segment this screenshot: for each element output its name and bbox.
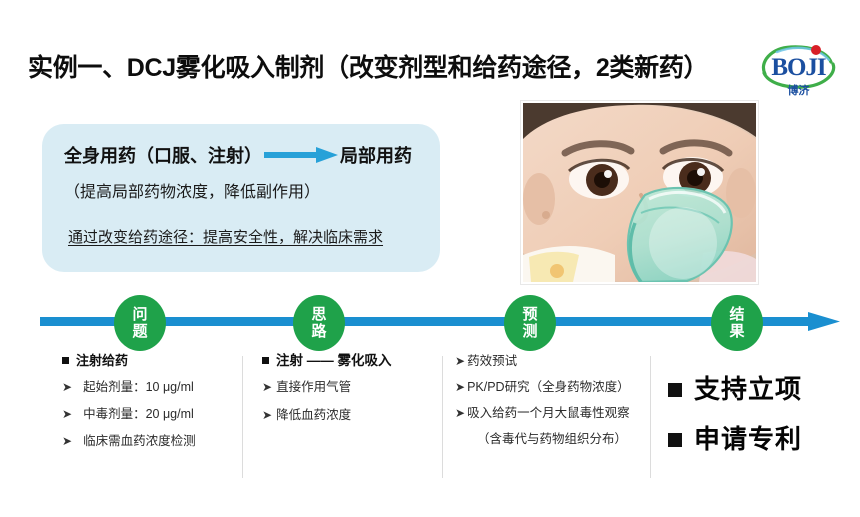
page-title-text: 实例一、DCJ雾化吸入制剂（改变剂型和给药途径，2类新药） [28, 46, 708, 90]
column-divider-3 [650, 356, 651, 478]
column-problem: 注射给药 ➤ 起始剂量：10 μg/ml ➤ 中毒剂量：20 μg/ml ➤ 临… [62, 352, 242, 459]
list-item: ➤ 起始剂量：10 μg/ml [62, 378, 242, 397]
callout-line-2: （提高局部药物浓度，降低副作用） [64, 178, 320, 202]
chevron-bullet-icon: ➤ [62, 432, 72, 451]
callout-box: 全身用药（口服、注射） 局部用药 （提高局部药物浓度，降低副作用） 通过改变给药… [42, 124, 440, 272]
chevron-bullet-icon: ➤ [262, 378, 272, 397]
list-item: ➤ 临床需血药浓度检测 [62, 432, 242, 451]
callout-line-3: 通过改变给药途径：提高安全性，解决临床需求 [68, 226, 383, 247]
timeline-step-1[interactable]: 问题 [114, 295, 166, 351]
logo-wordmark: BOJI [757, 54, 840, 82]
chevron-bullet-icon: ➤ [62, 405, 72, 424]
callout-route-to: 局部用药 [340, 142, 412, 168]
logo-wordmark-cn: 博济 [757, 82, 840, 98]
slide-canvas: 实例一、DCJ雾化吸入制剂（改变剂型和给药途径，2类新药） BOJI 博济 全身… [0, 0, 860, 517]
list-item-label: 起始剂量：10 μg/ml [83, 378, 194, 397]
column-approach-heading: 注射 —— 雾化吸入 [276, 352, 392, 369]
page-title: 实例一、DCJ雾化吸入制剂（改变剂型和给药途径，2类新药） [28, 46, 838, 90]
timeline-step-4[interactable]: 结果 [711, 295, 763, 351]
content-columns: 注射给药 ➤ 起始剂量：10 μg/ml ➤ 中毒剂量：20 μg/ml ➤ 临… [0, 352, 860, 482]
column-approach: 注射 —— 雾化吸入 ➤ 直接作用气管 ➤ 降低血药浓度 [262, 352, 442, 434]
chevron-bullet-icon: ➤ [262, 406, 272, 425]
column-approach-heading-row: 注射 —— 雾化吸入 [262, 352, 442, 369]
chevron-bullet-icon: ➤ [455, 378, 465, 397]
callout-line-1: 全身用药（口服、注射） 局部用药 [64, 142, 412, 168]
process-timeline: 问题 思路 预测 结果 [0, 292, 860, 354]
list-item-label: 吸入给药一个月大鼠毒性观察 [467, 404, 630, 423]
list-item: ➤ 降低血药浓度 [262, 406, 442, 425]
photo-illustration [523, 103, 756, 282]
chevron-bullet-icon: ➤ [455, 352, 465, 371]
list-item-label: 直接作用气管 [276, 378, 351, 397]
list-item-subline: （含毒代与药物组织分布） [455, 430, 650, 449]
list-item: 申请专利 [668, 424, 858, 454]
chevron-bullet-icon: ➤ [455, 404, 465, 423]
list-item: ➤ 吸入给药一个月大鼠毒性观察 [455, 404, 650, 423]
timeline-step-3[interactable]: 预测 [504, 295, 556, 351]
timeline-step-3-label: 预测 [521, 306, 539, 340]
list-item: ➤ 药效预试 [455, 352, 650, 371]
list-item-label: 中毒剂量：20 μg/ml [83, 405, 194, 424]
list-item: ➤ 中毒剂量：20 μg/ml [62, 405, 242, 424]
boji-logo: BOJI 博济 [757, 40, 840, 102]
list-item: 支持立项 [668, 374, 858, 404]
column-divider-1 [242, 356, 243, 478]
baby-nebulizer-photo [521, 101, 758, 284]
column-divider-2 [442, 356, 443, 478]
timeline-step-2[interactable]: 思路 [293, 295, 345, 351]
square-bullet-icon [62, 357, 69, 364]
callout-route-from: 全身用药（口服、注射） [64, 142, 262, 168]
column-problem-heading-row: 注射给药 [62, 352, 242, 369]
square-bullet-icon [668, 433, 682, 447]
column-problem-heading: 注射给药 [76, 352, 128, 369]
list-item-label: 支持立项 [694, 374, 802, 404]
square-bullet-icon [262, 357, 269, 364]
timeline-step-2-label: 思路 [310, 306, 328, 340]
timeline-step-1-label: 问题 [131, 306, 149, 340]
right-arrow-icon [264, 147, 338, 163]
list-item-label: 临床需血药浓度检测 [83, 432, 196, 451]
list-item-label: 降低血药浓度 [276, 406, 351, 425]
list-item: ➤ 直接作用气管 [262, 378, 442, 397]
timeline-step-4-label: 结果 [728, 306, 746, 340]
list-item-label: 申请专利 [694, 424, 802, 454]
square-bullet-icon [668, 383, 682, 397]
list-item: ➤ PK/PD研究（全身药物浓度） [455, 378, 650, 397]
column-prediction: ➤ 药效预试 ➤ PK/PD研究（全身药物浓度） ➤ 吸入给药一个月大鼠毒性观察… [455, 352, 650, 449]
list-item-label: 药效预试 [467, 352, 517, 371]
list-item-label: PK/PD研究（全身药物浓度） [467, 378, 630, 397]
column-result: 支持立项 申请专利 [668, 374, 858, 474]
chevron-bullet-icon: ➤ [62, 378, 72, 397]
